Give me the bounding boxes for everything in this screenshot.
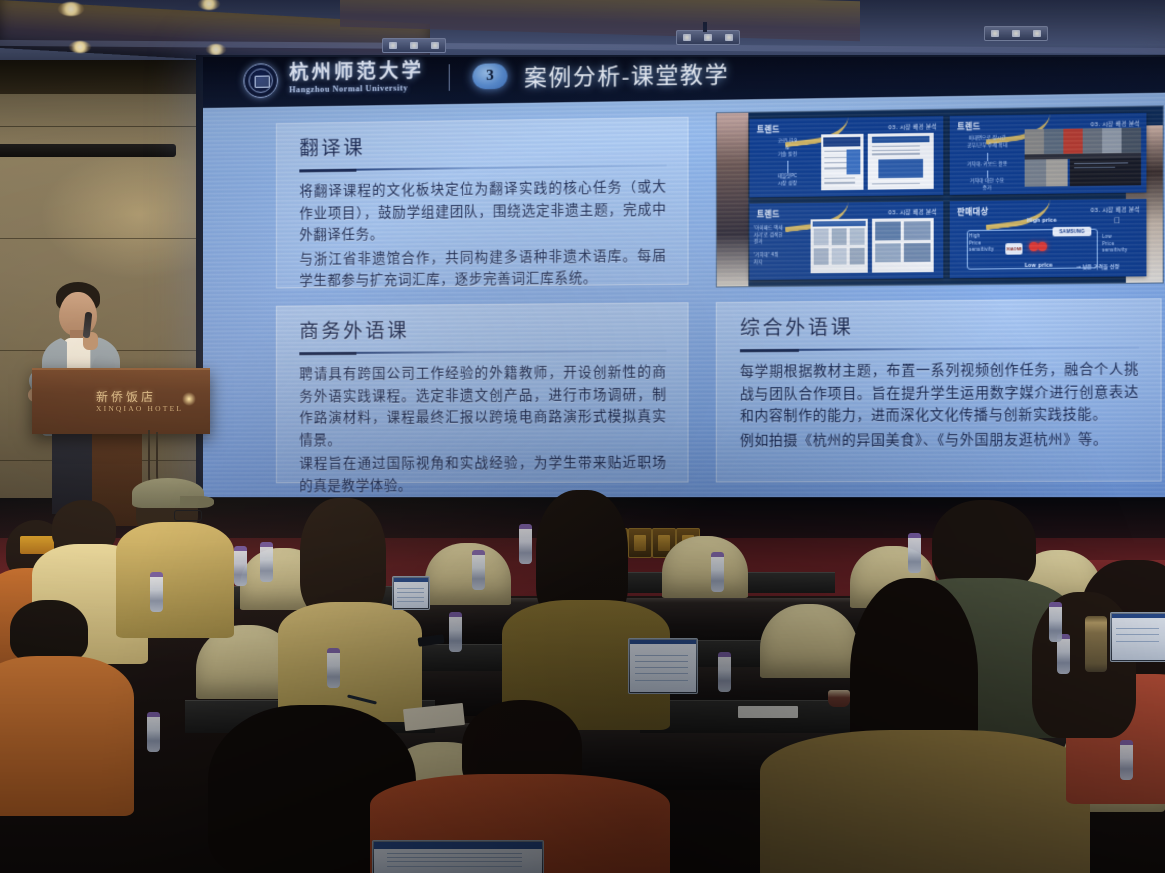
thermos-tumbler xyxy=(1085,616,1107,672)
wall-seam xyxy=(0,126,215,127)
audience-member xyxy=(118,474,228,614)
ceiling-spot-light xyxy=(58,2,84,16)
laptop-screen xyxy=(394,578,428,608)
korean-slide-2-label-a: 비대면으로 장시간 공부/근무 추세 확대 xyxy=(956,136,1018,150)
wall-seam xyxy=(0,238,215,239)
highlight-dot xyxy=(1038,242,1048,251)
hair xyxy=(300,498,386,618)
laptop-titlebar xyxy=(1112,614,1165,618)
water-bottle xyxy=(147,712,160,752)
laptop xyxy=(372,840,544,873)
card-comprehensive-paragraph-2: 例如拍摄《杭州的异国美食》、《与外国朋友逛杭州》等。 xyxy=(740,428,1139,452)
laptop-titlebar xyxy=(374,842,542,849)
laptop xyxy=(628,638,698,694)
card-rule xyxy=(299,350,666,355)
water-bottle xyxy=(1049,602,1062,642)
korean-slide-3: 트렌드 03. 시장 배경 분석 '아이패드 액세 서리'로 검색한 결과 '거… xyxy=(749,201,943,280)
korean-slide-1: 트렌드 03. 시장 배경 분석 코로나19 & 기술 발전 태블릿PC 시장 … xyxy=(749,116,943,197)
laptop-titlebar xyxy=(630,640,696,644)
university-name-cn: 杭州师范大学 xyxy=(289,62,424,84)
card-translation-title: 翻译课 xyxy=(299,128,666,161)
apple-logo-icon:  xyxy=(1113,216,1122,226)
water-bottle xyxy=(260,542,273,582)
brand-logo-square: XIAOMI xyxy=(1005,243,1022,255)
coffee-cup xyxy=(828,690,850,707)
flow-arrow xyxy=(787,161,788,173)
ceiling-spot-light xyxy=(198,0,220,10)
flow-arrow xyxy=(987,170,988,177)
ceiling-sensor xyxy=(703,22,707,32)
card-rule xyxy=(299,164,666,171)
projection-screen: 杭州师范大学 Hangzhou Normal University 3 案例分析… xyxy=(203,57,1165,497)
hair xyxy=(10,600,88,664)
korean-slide-1-label-a: 코로나19 & 기술 발전 xyxy=(760,139,815,160)
water-bottle xyxy=(718,652,731,692)
korean-slide-1-title: 트렌드 xyxy=(757,124,780,136)
chair xyxy=(662,536,748,598)
note-low-price-strategy: → 낮은 가격을 선정 xyxy=(1076,263,1119,271)
korean-slide-1-label-b: 태블릿PC 시장 성장 xyxy=(760,174,815,188)
card-comprehensive-foreign-language-course: 综合外语课 每学期根据教材主题，布置一系列视频创作任务，融合个人挑战与团队合作项… xyxy=(716,298,1162,482)
korean-slide-1-crumb: 03. 시장 배경 분석 xyxy=(888,122,937,131)
card-translation-paragraph-2: 与浙江省非遗馆合作，共同构建多语种非遗术语库。每届学生都参与扩充词汇库，逐步完善… xyxy=(299,244,666,292)
university-name-en: Hangzhou Normal University xyxy=(289,84,424,95)
photo-person-left xyxy=(717,113,749,287)
smartphone xyxy=(738,706,798,718)
audience-member xyxy=(0,600,140,800)
water-bottle xyxy=(150,572,163,612)
product-detail-thumbnail xyxy=(872,218,934,273)
ceiling-light-fixture xyxy=(984,26,1048,41)
glasses xyxy=(174,510,202,521)
korean-slide-4: 판매대상 03. 시장 배경 분석 High price Low price H… xyxy=(950,199,1147,278)
card-rule xyxy=(740,347,1139,352)
ceiling-spot-light xyxy=(206,44,226,55)
korean-slide-3-title: 트렌드 xyxy=(757,208,780,220)
label-low-sensitivity: Low Price sensitivity xyxy=(1102,235,1137,256)
video-gallery-thumbnail xyxy=(1025,128,1141,155)
section-number-badge: 3 xyxy=(472,63,507,89)
korean-slide-2-label-c: 거치대 대한 수요 증가 xyxy=(956,178,1018,192)
korean-slide-2: 트렌드 03. 시장 배경 분석 비대면으로 장시간 공부/근무 추세 확대 거… xyxy=(950,113,1147,195)
header-divider xyxy=(449,64,450,91)
korean-slide-3-crumb: 03. 시장 배경 분석 xyxy=(888,208,937,217)
water-bottle xyxy=(327,648,340,688)
korean-slide-3-label-a: '아이패드 액세 서리'로 검색한 결과 xyxy=(754,226,805,247)
laptop-titlebar xyxy=(394,578,428,582)
slide-title: 案例分析-课堂教学 xyxy=(524,57,729,92)
ceiling-light-fixture xyxy=(676,30,740,45)
label-high-sensitivity: High Price sensitivity xyxy=(969,234,1003,255)
cap-brim xyxy=(180,496,214,508)
university-name-block: 杭州师范大学 Hangzhou Normal University xyxy=(289,62,424,95)
slide-body: 트렌드 03. 시장 배경 분석 코로나19 & 기술 발전 태블릿PC 시장 … xyxy=(203,92,1165,497)
water-bottle xyxy=(711,552,724,592)
card-business-title: 商务外语课 xyxy=(299,314,666,344)
water-bottle xyxy=(519,524,532,564)
laptop xyxy=(392,576,430,610)
korean-slide-4-crumb: 03. 시장 배경 분석 xyxy=(1090,205,1140,214)
hotel-name-cn: 新侨饭店 xyxy=(96,388,156,405)
water-bottle xyxy=(449,612,462,652)
korean-slide-2-label-b: 거치대, 키보드 활용 xyxy=(956,162,1018,170)
ceiling-light-fixture xyxy=(382,38,446,53)
water-bottle xyxy=(1120,740,1133,780)
conference-room-photo: 杭州师范大学 Hangzhou Normal University 3 案例分析… xyxy=(0,0,1165,873)
card-comprehensive-title: 综合外语课 xyxy=(740,310,1139,341)
samsung-logo: SAMSUNG xyxy=(1053,227,1092,237)
axis-label-high-price: High price xyxy=(1027,219,1057,225)
ceiling-spot-light xyxy=(69,41,91,53)
document-thumbnail xyxy=(821,134,863,191)
flow-arrow xyxy=(987,153,988,161)
korean-slide-4-title: 판매대상 xyxy=(957,206,988,218)
laptop-screen xyxy=(1112,614,1165,660)
chair xyxy=(425,543,511,605)
presentation-slide: 杭州师范大学 Hangzhou Normal University 3 案例分析… xyxy=(203,57,1165,497)
product-grid-thumbnail xyxy=(811,219,868,273)
wall-black-rail xyxy=(0,144,176,157)
lectern: 新侨饭店 XINQIAO HOTEL xyxy=(32,368,210,434)
water-bottle xyxy=(234,546,247,586)
university-seal-icon xyxy=(243,63,278,98)
article-thumbnail xyxy=(868,133,934,190)
student-project-slides-photo: 트렌드 03. 시장 배경 분석 코로나19 & 기술 발전 태블릿PC 시장 … xyxy=(716,105,1164,287)
card-translation-course: 翻译课 将翻译课程的文化板块定位为翻译实践的核心任务（或大作业项目），鼓励学组建… xyxy=(276,117,689,289)
laptop-screen xyxy=(630,640,696,692)
decor-arc xyxy=(982,199,1053,230)
korean-slide-2-title: 트렌드 xyxy=(957,121,980,133)
card-business-paragraph-1: 聘请具有跨国公司工作经验的外籍教师，开设创新性的商务外语实践课程。选定非遗文创产… xyxy=(299,361,666,451)
water-bottle xyxy=(472,550,485,590)
torso xyxy=(0,656,134,816)
video-list-thumbnail xyxy=(1025,159,1068,187)
korean-slide-3-label-b: '거치대' 4위 차지 xyxy=(754,253,805,267)
laptop-screen xyxy=(374,842,542,873)
laptop xyxy=(1110,612,1165,662)
water-bottle xyxy=(908,533,921,573)
card-translation-paragraph-1: 将翻译课程的文化板块定位为翻译实践的核心任务（或大作业项目），鼓励学组建团队，围… xyxy=(299,176,666,246)
hotel-name-en: XINQIAO HOTEL xyxy=(96,404,183,413)
card-comprehensive-paragraph-1: 每学期根据教材主题，布置一系列视频创作任务，融合个人挑战与团队合作项目。旨在提升… xyxy=(740,358,1139,427)
card-business-foreign-language-course: 商务外语课 聘请具有跨国公司工作经验的外籍教师，开设创新性的商务外语实践课程。选… xyxy=(276,302,689,483)
podium-lamp xyxy=(182,392,196,406)
